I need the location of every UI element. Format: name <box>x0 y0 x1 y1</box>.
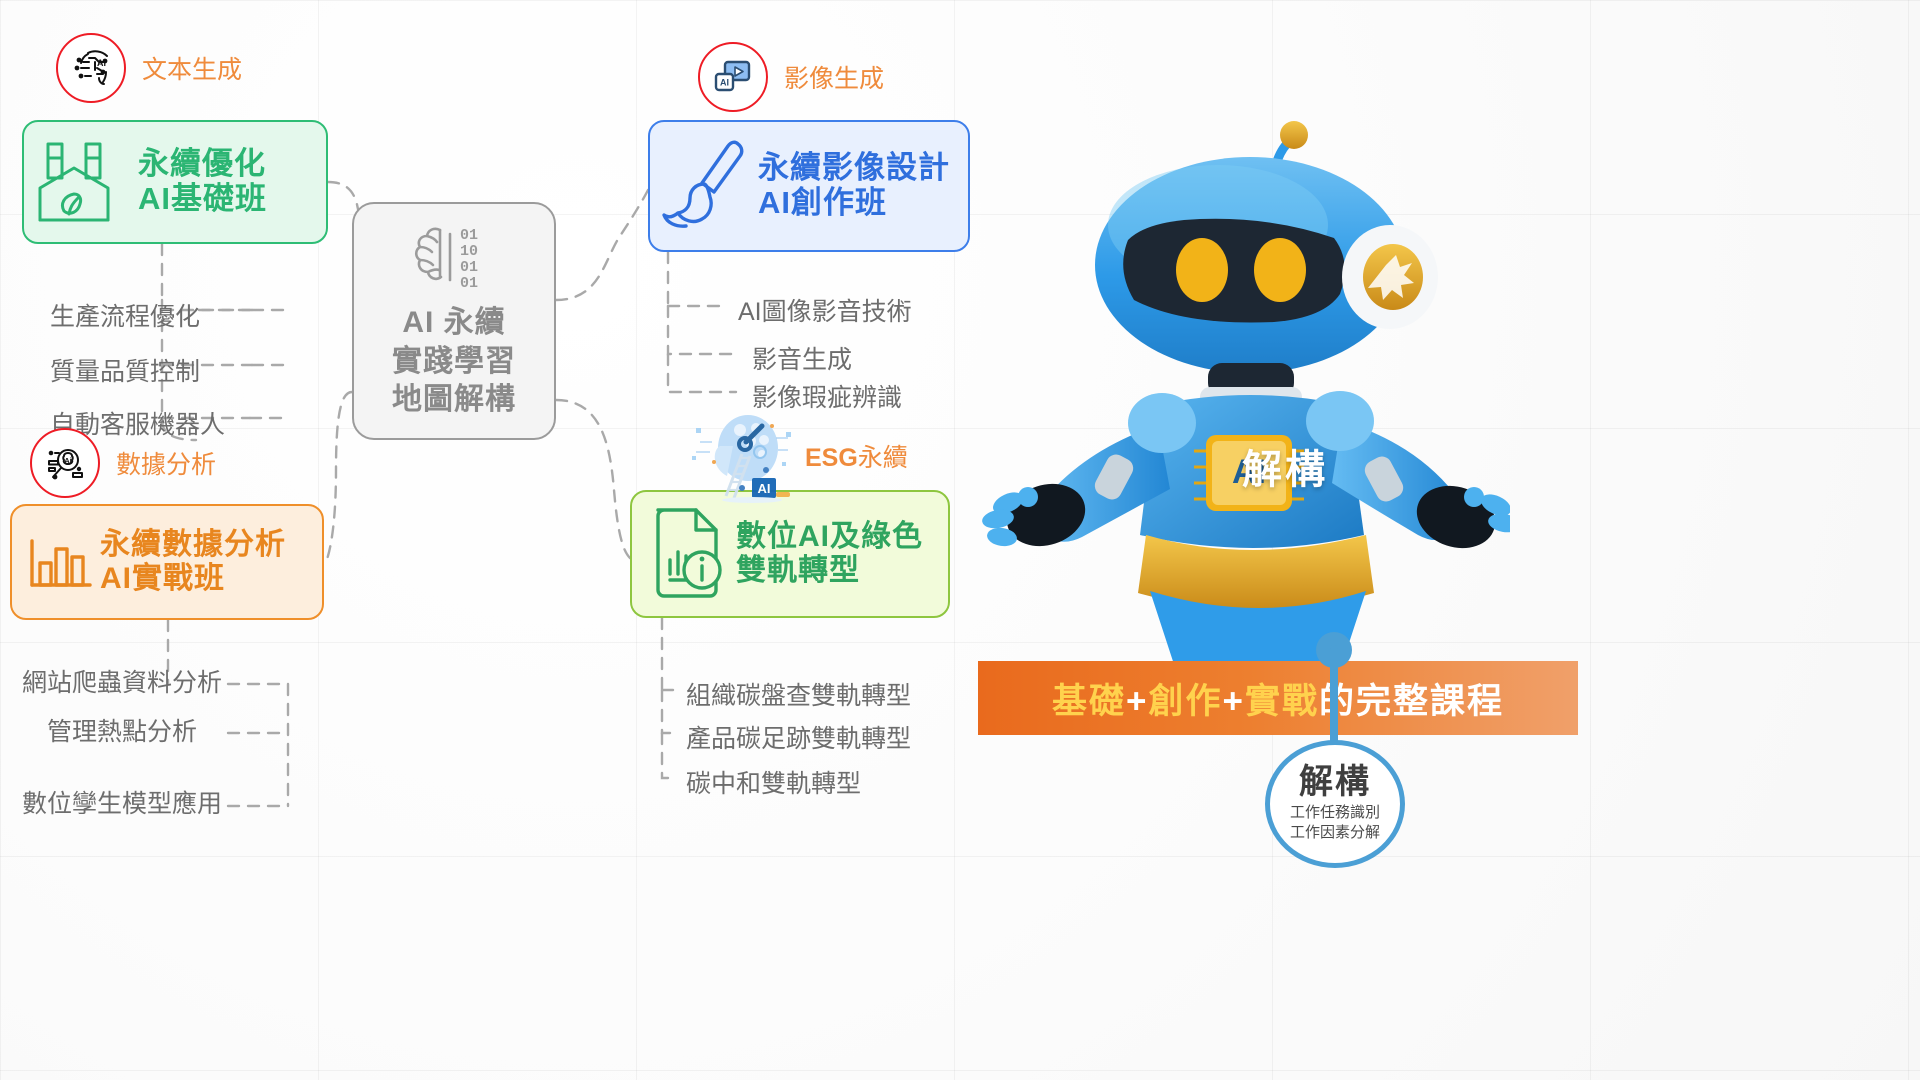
svg-text:AI: AI <box>720 78 729 88</box>
card-line2: 雙軌轉型 <box>736 554 923 588</box>
banner-plus1: + <box>1126 682 1148 721</box>
leaf-item[interactable]: 網站爬蟲資料分析 <box>22 663 222 699</box>
banner-seg3: 實戰 <box>1245 682 1319 721</box>
chip-image-generation[interactable]: AI 影像生成 <box>698 42 884 112</box>
robot-overlay-word: 解構 <box>1242 437 1328 495</box>
card-line1: 數位AI及綠色 <box>736 520 923 554</box>
hub-line1: AI 永續 <box>402 304 505 342</box>
document-chart-info-icon <box>644 502 736 606</box>
magnifier-ai-brain-icon: Ai <box>30 428 100 498</box>
leaf-item[interactable]: 質量品質控制 <box>50 352 200 388</box>
svg-text:01: 01 <box>460 227 478 244</box>
card-sustainable-optimization[interactable]: 永續優化 AI基礎班 <box>22 120 328 244</box>
leaf-item[interactable]: AI圖像影音技術 <box>738 292 912 328</box>
card-line2: AI實戰班 <box>100 562 286 596</box>
svg-text:10: 10 <box>460 243 478 260</box>
pill-sub-line2: 工作因素分解 <box>1290 824 1380 841</box>
deconstruct-pill[interactable]: 解構 工作任務識別 工作因素分解 <box>1265 740 1405 868</box>
card-line2: AI創作班 <box>758 186 950 221</box>
leaf-item[interactable]: 影音生成 <box>752 340 852 376</box>
factory-leaf-icon <box>34 136 138 228</box>
card-text: 永續優化 AI基礎班 <box>138 147 267 216</box>
infographic-canvas: AI 文本生成 AI 影像生成 <box>0 0 1920 1080</box>
hub-line3: 地圖解構 <box>392 381 516 419</box>
card-line1: 永續優化 <box>138 147 267 182</box>
paint-brush-icon <box>660 134 758 238</box>
chip-text-generation[interactable]: AI 文本生成 <box>56 33 242 103</box>
chip-label: 影像生成 <box>784 59 884 95</box>
banner-tail: 的完整課程 <box>1319 682 1504 721</box>
connector-stem <box>1330 645 1338 745</box>
card-sustainable-image-design[interactable]: 永續影像設計 AI創作班 <box>648 120 970 252</box>
card-line1: 永續數據分析 <box>100 528 286 562</box>
video-ai-icon: AI <box>698 42 768 112</box>
brain-binary-icon: 01 10 01 01 <box>406 222 502 294</box>
svg-text:AI: AI <box>97 58 106 68</box>
svg-text:01: 01 <box>460 259 478 276</box>
chip-data-analysis[interactable]: Ai 數據分析 <box>30 428 216 498</box>
ai-head-circuit-icon: AI <box>56 33 126 103</box>
card-text: 永續影像設計 AI創作班 <box>758 151 950 220</box>
esg-label-bold: ESG <box>805 444 858 472</box>
chip-label: 數據分析 <box>116 445 216 481</box>
card-text: 永續數據分析 AI實戰班 <box>100 528 286 595</box>
leaf-item[interactable]: 管理熱點分析 <box>47 712 197 748</box>
pill-sub-line1: 工作任務識別 <box>1290 804 1380 821</box>
svg-text:Ai: Ai <box>64 456 72 465</box>
banner-seg1: 基礎 <box>1052 682 1126 721</box>
leaf-item[interactable]: 產品碳足跡雙軌轉型 <box>686 719 911 755</box>
pill-subtitle: 工作任務識別 工作因素分解 <box>1290 803 1380 844</box>
svg-text:01: 01 <box>460 275 478 292</box>
robot-mascot: AI <box>1030 105 1410 725</box>
leaf-item[interactable]: 碳中和雙軌轉型 <box>686 764 861 800</box>
hub-text: AI 永續 實踐學習 地圖解構 <box>392 304 516 419</box>
course-banner: 基礎+創作+實戰的完整課程 <box>978 661 1578 735</box>
chip-label: 文本生成 <box>142 50 242 86</box>
card-text: 數位AI及綠色 雙軌轉型 <box>736 520 923 587</box>
card-sustainable-data-analysis[interactable]: 永續數據分析 AI實戰班 <box>10 504 324 620</box>
ai-head-ladder-illustration: AI <box>690 408 794 504</box>
leaf-item[interactable]: 生產流程優化 <box>50 297 200 333</box>
esg-label-rest: 永續 <box>858 444 908 472</box>
bar-chart-icon <box>22 527 100 597</box>
svg-text:AI: AI <box>758 481 771 496</box>
hub-line2: 實踐學習 <box>392 343 516 381</box>
card-digital-ai-green-transformation[interactable]: 數位AI及綠色 雙軌轉型 <box>630 490 950 618</box>
hub-node-ai-sustainability-map[interactable]: 01 10 01 01 AI 永續 實踐學習 地圖解構 <box>352 202 556 440</box>
card-line1: 永續影像設計 <box>758 151 950 186</box>
card-line2: AI基礎班 <box>138 182 267 217</box>
banner-seg2: 創作 <box>1148 682 1222 721</box>
leaf-item[interactable]: 數位孿生模型應用 <box>22 784 222 820</box>
banner-text: 基礎+創作+實戰的完整課程 <box>1052 673 1504 724</box>
banner-plus2: + <box>1223 682 1245 721</box>
leaf-item[interactable]: 組織碳盤查雙軌轉型 <box>686 676 911 712</box>
chip-esg-sustainability[interactable]: ESG永續 <box>805 438 908 474</box>
pill-title: 解構 <box>1299 765 1371 799</box>
